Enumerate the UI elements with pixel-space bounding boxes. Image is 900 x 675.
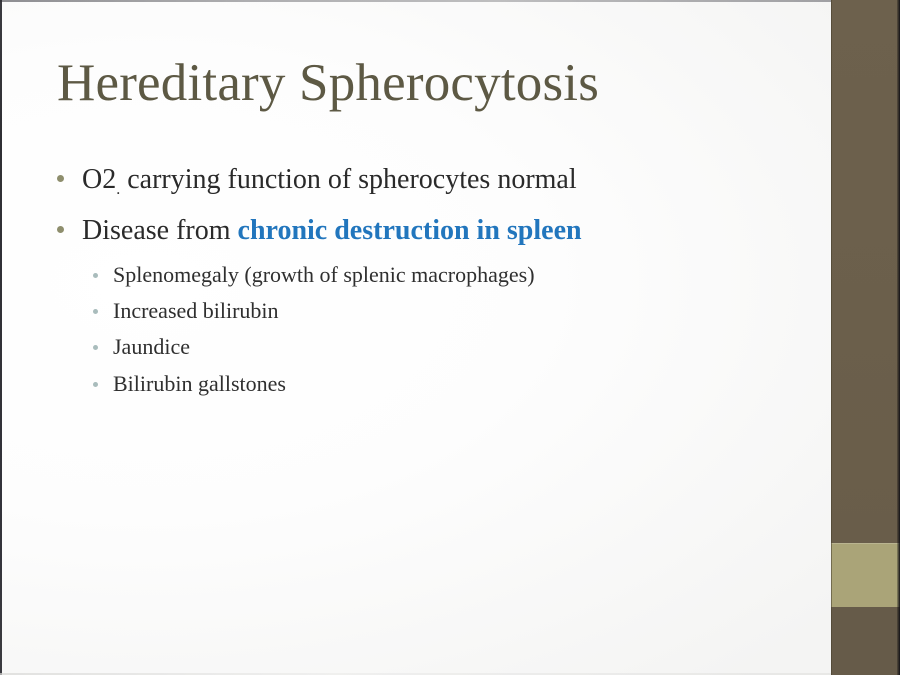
bullet-text-plain: carrying function of spherocytes normal (120, 164, 576, 195)
sidebar-band-upper (831, 0, 900, 543)
sub-bullet-dot-icon (93, 273, 98, 278)
bullet-text: O2. carrying function of spherocytes nor… (82, 160, 577, 202)
bullet-dot-icon (57, 175, 64, 182)
bullet-item-level2: Bilirubin gallstones (93, 369, 797, 398)
bullet-item-level1: O2. carrying function of spherocytes nor… (57, 160, 797, 202)
sub-bullet-text: Splenomegaly (growth of splenic macropha… (113, 260, 535, 289)
slide-title: Hereditary Spherocytosis (57, 55, 599, 111)
slide-top-edge (0, 0, 831, 2)
sub-bullet-dot-icon (93, 382, 98, 387)
sub-bullet-text: Increased bilirubin (113, 296, 279, 325)
sidebar-left-edge (831, 0, 832, 675)
bullet-text-before: Disease from (82, 215, 238, 246)
bullet-item-level1: Disease from chronic destruction in sple… (57, 211, 797, 251)
slide-body: O2. carrying function of spherocytes nor… (57, 160, 797, 405)
slide-decoration-sidebar (831, 0, 900, 675)
sub-bullet-dot-icon (93, 345, 98, 350)
bullet-text-before: O2 (82, 164, 116, 195)
sub-bullet-list: Splenomegaly (growth of splenic macropha… (93, 260, 797, 398)
bullet-text-highlight: chronic destruction in spleen (238, 215, 582, 246)
bullet-dot-icon (57, 226, 64, 233)
sidebar-band-lower (831, 607, 900, 675)
sidebar-accent-block (831, 543, 900, 607)
bullet-item-level2: Splenomegaly (growth of splenic macropha… (93, 260, 797, 289)
bullet-item-level2: Jaundice (93, 332, 797, 361)
sub-bullet-dot-icon (93, 309, 98, 314)
slide-left-edge (0, 0, 2, 675)
presentation-slide: Hereditary Spherocytosis O2. carrying fu… (0, 0, 900, 675)
bullet-text: Disease from chronic destruction in sple… (82, 211, 582, 251)
sub-bullet-text: Bilirubin gallstones (113, 369, 286, 398)
sub-bullet-text: Jaundice (113, 332, 190, 361)
bullet-item-level2: Increased bilirubin (93, 296, 797, 325)
